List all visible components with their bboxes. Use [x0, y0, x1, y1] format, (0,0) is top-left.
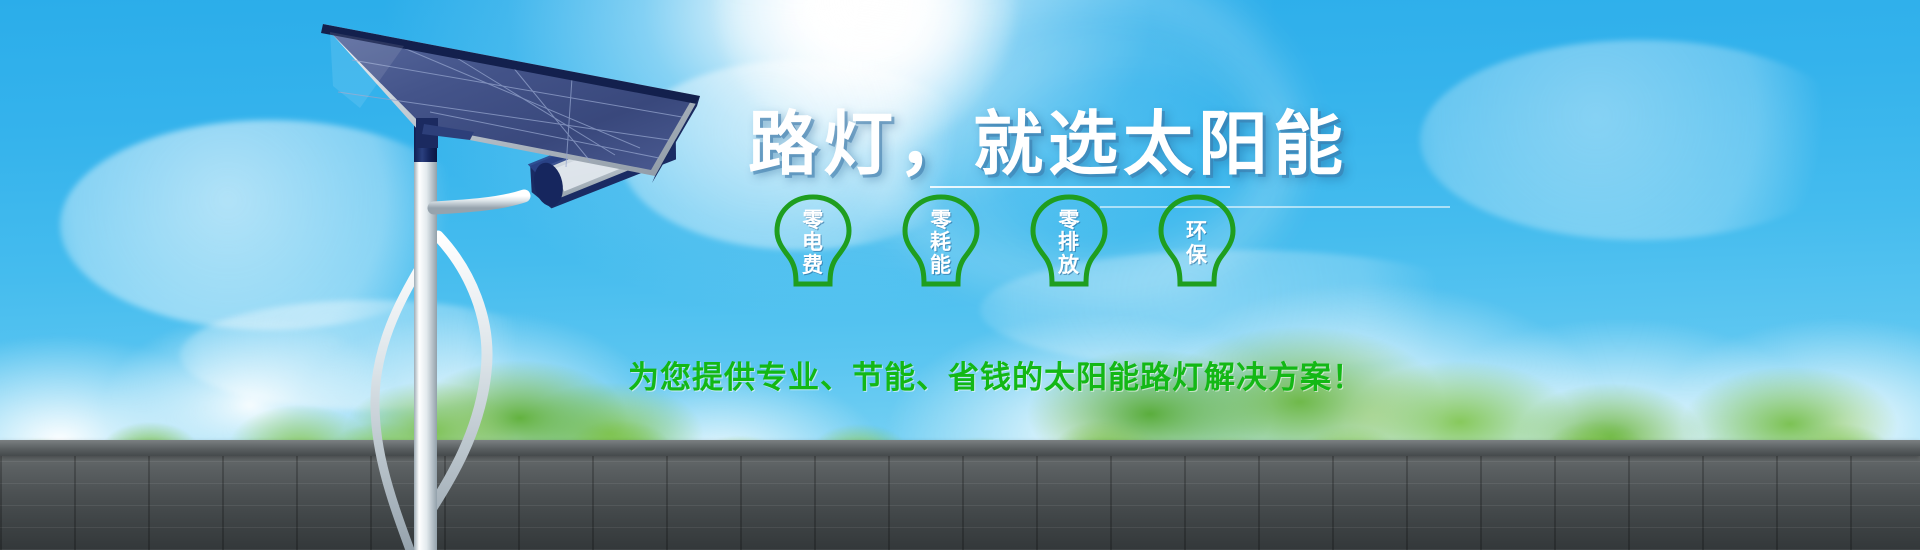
badge-word-1: 电 — [802, 231, 824, 254]
feature-badge-zero-electricity[interactable]: 零 电 费 — [770, 192, 856, 292]
divider-rule-primary — [930, 186, 1230, 188]
badge-text: 环 保 — [1154, 192, 1240, 292]
badge-word-2: 保 — [1186, 244, 1208, 267]
badge-zero-char: 零 — [803, 210, 824, 231]
solar-street-light-banner: 路灯，就选太阳能 零 电 费 零 耗 — [0, 0, 1920, 550]
badge-word-1: 环 — [1186, 220, 1208, 243]
page-title: 路灯，就选太阳能 — [748, 88, 1348, 189]
badge-zero-char: 零 — [1059, 210, 1080, 231]
badge-word-1: 耗 — [930, 231, 952, 254]
badge-text: 零 排 放 — [1026, 192, 1112, 292]
feature-badge-zero-consumption[interactable]: 零 耗 能 — [898, 192, 984, 292]
feature-badge-eco-friendly[interactable]: 环 保 — [1154, 192, 1240, 292]
badge-word-2: 放 — [1058, 254, 1080, 277]
badge-word-2: 费 — [802, 254, 824, 277]
feature-badge-list: 零 电 费 零 耗 能 零 — [770, 192, 1240, 292]
badge-word-2: 能 — [930, 254, 952, 277]
banner-copy: 路灯，就选太阳能 零 电 费 零 耗 — [0, 0, 1920, 550]
feature-badge-zero-emission[interactable]: 零 排 放 — [1026, 192, 1112, 292]
badge-zero-char: 零 — [931, 210, 952, 231]
badge-word-1: 排 — [1058, 231, 1080, 254]
badge-text: 零 耗 能 — [898, 192, 984, 292]
badge-text: 零 电 费 — [770, 192, 856, 292]
banner-tagline: 为您提供专业、节能、省钱的太阳能路灯解决方案！ — [628, 352, 1364, 397]
